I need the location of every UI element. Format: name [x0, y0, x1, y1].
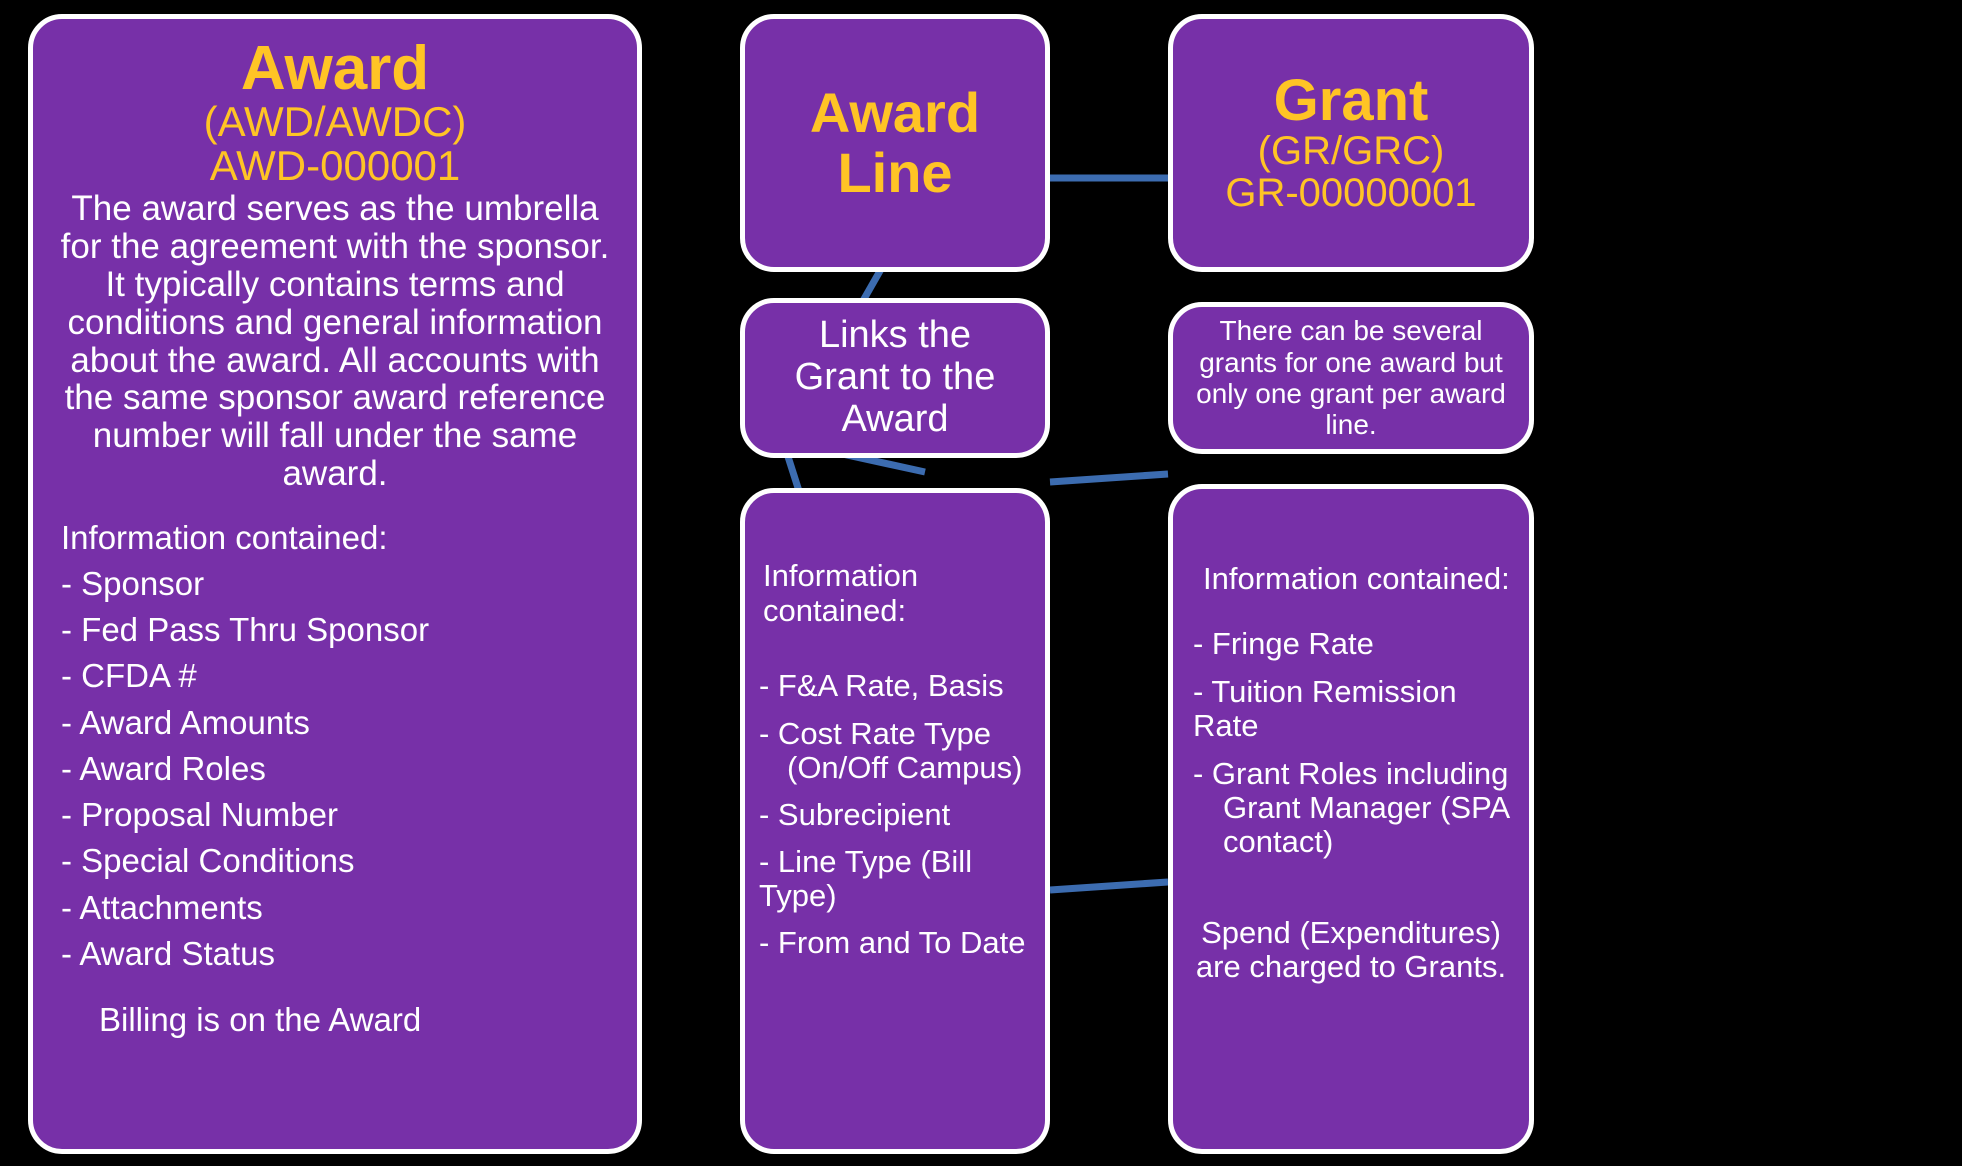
- grant-info-card[interactable]: Information contained: - Fringe Rate - T…: [1168, 484, 1534, 1154]
- list-item: - Attachments: [61, 889, 623, 927]
- list-item: - Fringe Rate: [1193, 627, 1517, 661]
- list-item: - Special Conditions: [61, 842, 623, 880]
- award-info-list: - Sponsor - Fed Pass Thru Sponsor - CFDA…: [47, 557, 623, 973]
- list-item-continuation: Grant Manager (SPA contact): [1193, 791, 1517, 859]
- diagram-canvas: Award (AWD/AWDC) AWD-000001 The award se…: [0, 0, 1962, 1166]
- several-grants-note-card[interactable]: There can be several grants for one awar…: [1168, 302, 1534, 454]
- links-text-line1: Links the: [819, 315, 971, 357]
- grant-card[interactable]: Grant (GR/GRC) GR-00000001: [1168, 14, 1534, 272]
- list-item-main: - From and To Date: [759, 925, 1025, 960]
- list-item: - Award Amounts: [61, 704, 623, 742]
- links-text-line2: Grant to the: [795, 357, 996, 399]
- list-item-main: - Tuition Remission Rate: [1193, 674, 1457, 743]
- award-code: (AWD/AWDC): [47, 100, 623, 144]
- list-item-main: - Grant Roles including: [1193, 756, 1508, 791]
- list-item: - Award Status: [61, 935, 623, 973]
- award-line-title-line2: Line: [837, 143, 952, 203]
- list-item: - Proposal Number: [61, 796, 623, 834]
- list-item: - Sponsor: [61, 565, 623, 603]
- links-grant-to-award-card[interactable]: Links the Grant to the Award: [740, 298, 1050, 458]
- list-item: - Grant Roles including Grant Manager (S…: [1193, 757, 1517, 859]
- award-title: Award: [47, 37, 623, 100]
- award-info-heading: Information contained:: [47, 519, 623, 557]
- list-item: - Fed Pass Thru Sponsor: [61, 611, 623, 649]
- list-item-main: - F&A Rate, Basis: [759, 668, 1004, 703]
- several-grants-text: There can be several grants for one awar…: [1181, 315, 1521, 440]
- list-item: - Tuition Remission Rate: [1193, 675, 1517, 743]
- grant-spend-note: Spend (Expenditures) are charged to Gran…: [1185, 916, 1517, 985]
- award-number: AWD-000001: [47, 144, 623, 188]
- list-item: - From and To Date: [759, 926, 1035, 960]
- award-card[interactable]: Award (AWD/AWDC) AWD-000001 The award se…: [28, 14, 642, 1154]
- list-item: - Line Type (Bill Type): [759, 845, 1035, 913]
- list-item: - Cost Rate Type (On/Off Campus): [759, 717, 1035, 785]
- award-line-title-line1: Award: [810, 83, 980, 143]
- grant-info-list: - Fringe Rate - Tuition Remission Rate -…: [1185, 613, 1517, 860]
- grant-code: (GR/GRC): [1258, 130, 1445, 172]
- links-text-line3: Award: [841, 399, 948, 441]
- list-item-main: - Subrecipient: [759, 797, 950, 832]
- award-line-card[interactable]: Award Line: [740, 14, 1050, 272]
- award-description: The award serves as the umbrella for the…: [47, 190, 623, 492]
- grant-info-heading: Information contained:: [1185, 561, 1517, 597]
- list-item: - Subrecipient: [759, 798, 1035, 832]
- list-item-main: - Fringe Rate: [1193, 626, 1374, 661]
- list-item-main: - Line Type (Bill Type): [759, 844, 972, 913]
- list-item: - F&A Rate, Basis: [759, 669, 1035, 703]
- award-line-info-card[interactable]: Information contained: - F&A Rate, Basis…: [740, 488, 1050, 1154]
- grant-number: GR-00000001: [1225, 172, 1476, 214]
- list-item-main: - Cost Rate Type: [759, 716, 991, 751]
- award-billing-note: Billing is on the Award: [47, 1001, 623, 1039]
- grant-title: Grant: [1274, 72, 1429, 130]
- connector-links-to-several-grants: [1050, 474, 1168, 482]
- award-line-info-heading-line1: Information: [763, 558, 918, 593]
- connector-awardline-info-to-grant-info: [1050, 882, 1168, 890]
- list-item: - Award Roles: [61, 750, 623, 788]
- list-item-continuation: (On/Off Campus): [759, 751, 1035, 785]
- award-line-info-heading: Information contained:: [755, 559, 1035, 628]
- list-item: - CFDA #: [61, 657, 623, 695]
- award-line-info-heading-line2: contained:: [763, 593, 906, 628]
- award-line-info-list: - F&A Rate, Basis - Cost Rate Type (On/O…: [755, 656, 1035, 960]
